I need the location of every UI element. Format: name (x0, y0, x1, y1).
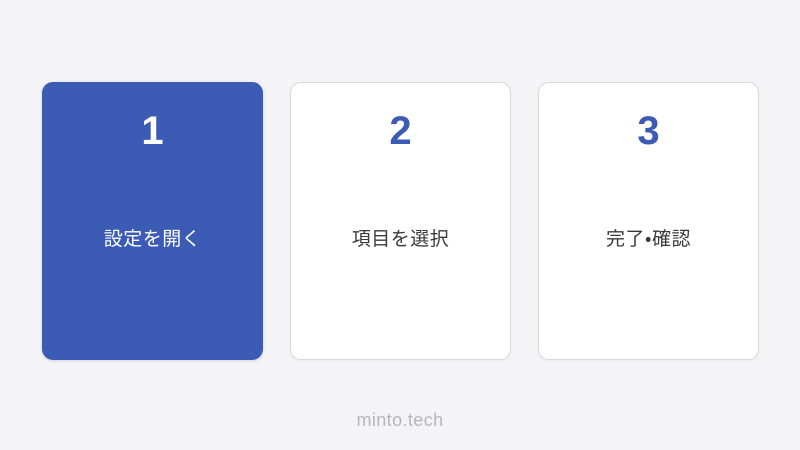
step-number-2: 2 (389, 109, 411, 153)
step-number-1: 1 (141, 109, 163, 153)
step-card-list: 1 設定を開く 2 項目を選択 3 完了・確認 (42, 82, 759, 360)
step-label-2: 項目を選択 (291, 227, 510, 254)
footer-watermark: minto.tech (0, 410, 800, 431)
step-label-3: 完了・確認 (539, 227, 758, 254)
step-card-1[interactable]: 1 設定を開く (42, 82, 263, 360)
step-label-1: 設定を開く (43, 227, 262, 254)
step-number-3: 3 (637, 109, 659, 153)
step-flow-stage: 1 設定を開く 2 項目を選択 3 完了・確認 minto.tech (0, 0, 800, 450)
step-card-2[interactable]: 2 項目を選択 (290, 82, 511, 360)
step-card-3[interactable]: 3 完了・確認 (538, 82, 759, 360)
